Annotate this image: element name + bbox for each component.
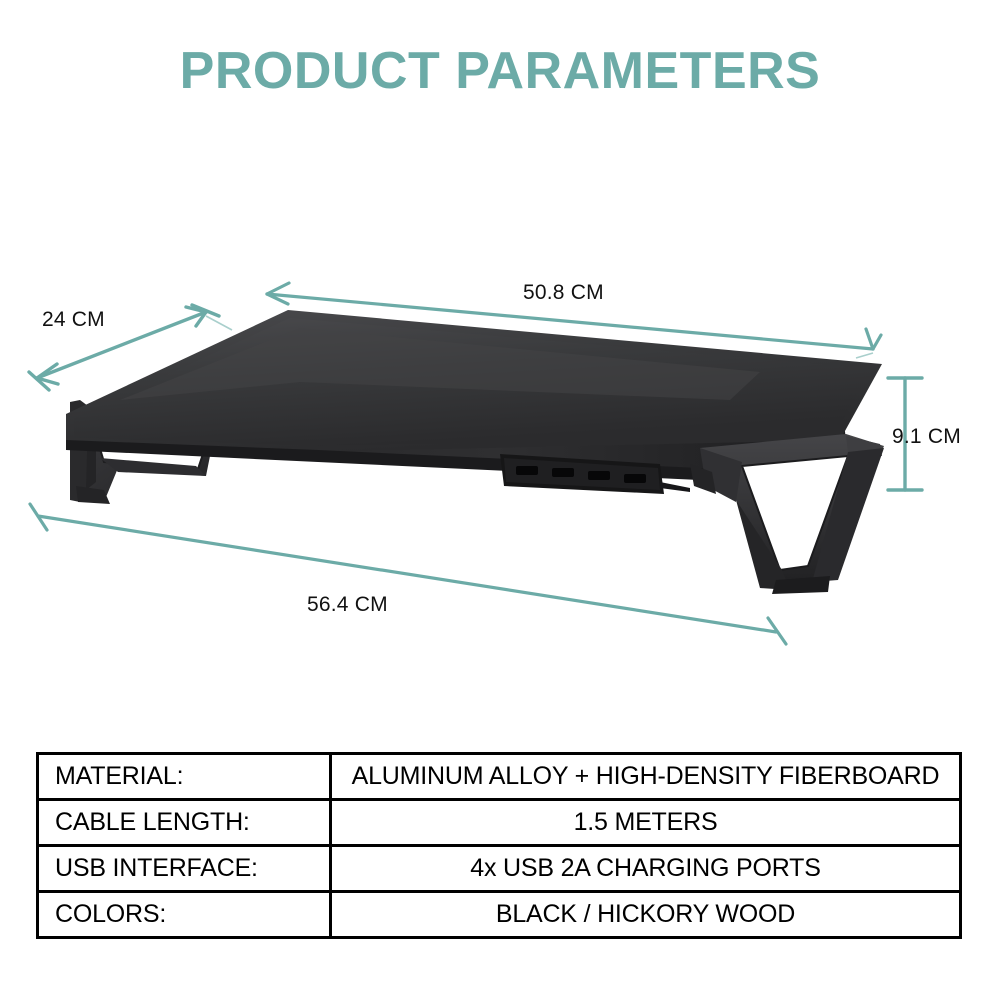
table-row: COLORS: BLACK / HICKORY WOOD [38, 892, 961, 938]
table-row: MATERIAL: ALUMINUM ALLOY + HIGH-DENSITY … [38, 754, 961, 800]
spec-value-colors: BLACK / HICKORY WOOD [331, 892, 961, 938]
dimension-width-label: 50.8 CM [523, 281, 604, 305]
spec-value-material: ALUMINUM ALLOY + HIGH-DENSITY FIBERBOARD [331, 754, 961, 800]
page-title: PRODUCT PARAMETERS [0, 45, 1000, 97]
spec-key-colors: COLORS: [38, 892, 331, 938]
table-row: USB INTERFACE: 4x USB 2A CHARGING PORTS [38, 846, 961, 892]
dimension-height-label: 9.1 CM [892, 425, 961, 449]
spec-key-material: MATERIAL: [38, 754, 331, 800]
product-illustration [0, 250, 1000, 670]
specification-table: MATERIAL: ALUMINUM ALLOY + HIGH-DENSITY … [36, 752, 962, 939]
table-row: CABLE LENGTH: 1.5 METERS [38, 800, 961, 846]
dimension-line-total [30, 504, 786, 644]
spec-value-cable-length: 1.5 METERS [331, 800, 961, 846]
spec-key-cable-length: CABLE LENGTH: [38, 800, 331, 846]
spec-key-usb-interface: USB INTERFACE: [38, 846, 331, 892]
dimension-total-label: 56.4 CM [307, 593, 388, 617]
product-parameters-page: PRODUCT PARAMETERS [0, 0, 1000, 1000]
dimension-depth-label: 24 CM [42, 308, 105, 332]
stand-leg-right [700, 434, 884, 594]
spec-value-usb-interface: 4x USB 2A CHARGING PORTS [331, 846, 961, 892]
